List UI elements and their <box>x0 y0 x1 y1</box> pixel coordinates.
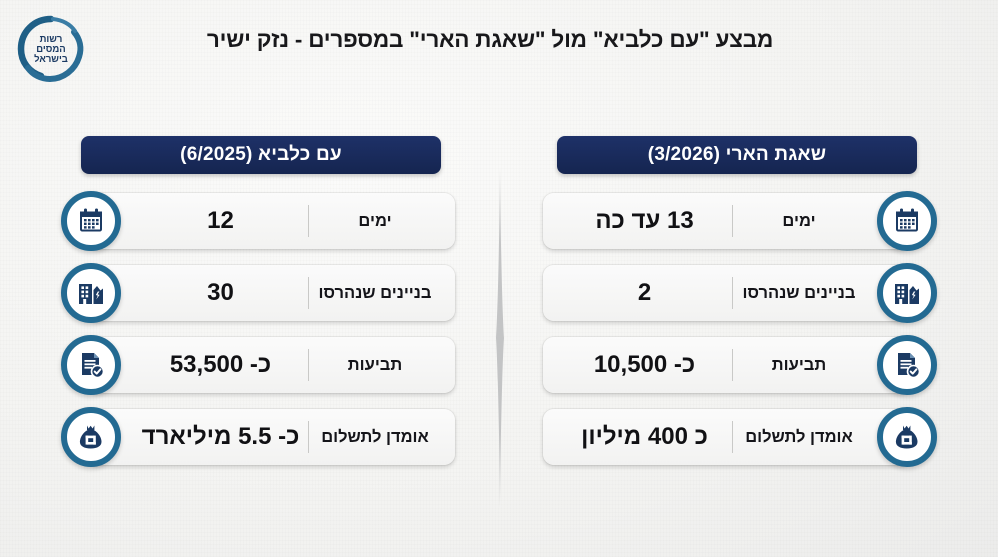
column-header-left: עם כלביא (6/2025) <box>81 136 441 174</box>
cell-separator <box>732 277 733 309</box>
metric-label: בניינים שנהרסו <box>733 284 865 303</box>
damaged-building-icon <box>61 263 121 323</box>
money-bag-shekel-icon <box>877 407 937 467</box>
cell-separator <box>308 349 309 381</box>
metric-value: 2 <box>557 279 732 307</box>
metric-value: 12 <box>133 207 308 235</box>
calendar-icon <box>877 191 937 251</box>
table-row: בניינים שנהרסו 30 <box>59 265 463 321</box>
metric-card-claims-left[interactable]: תביעות כ- 53,500 <box>87 337 455 393</box>
metric-value: כ 400 מיליון <box>557 423 732 451</box>
cell-separator <box>732 205 733 237</box>
metric-value: 30 <box>133 279 308 307</box>
calendar-icon <box>61 191 121 251</box>
logo-line-3: בישראל <box>34 54 68 65</box>
metric-value: כ- 5.5 מיליארד <box>133 423 308 451</box>
page-title: מבצע "עם כלביא" מול "שאגת הארי" במספרים … <box>0 27 998 53</box>
rows-left: ימים 12 <box>59 193 463 465</box>
metric-value: כ- 10,500 <box>557 351 732 379</box>
cell-separator <box>308 277 309 309</box>
metric-label: בניינים שנהרסו <box>309 284 441 303</box>
claim-document-icon <box>877 335 937 395</box>
column-am-kelavi: עם כלביא (6/2025) ימים 12 <box>59 136 463 465</box>
table-row: תביעות כ- 53,500 <box>59 337 463 393</box>
metric-label: אומדן לתשלום <box>309 428 441 447</box>
metric-card-payment-left[interactable]: אומדן לתשלום כ- 5.5 מיליארד <box>87 409 455 465</box>
metric-label: ימים <box>733 212 865 231</box>
table-row: ימים 13 עד כה <box>535 193 939 249</box>
metric-label: אומדן לתשלום <box>733 428 865 447</box>
metric-label: תביעות <box>733 356 865 375</box>
cell-separator <box>732 421 733 453</box>
money-bag-shekel-icon <box>61 407 121 467</box>
table-row: אומדן לתשלום כ 400 מיליון <box>535 409 939 465</box>
table-row: בניינים שנהרסו 2 <box>535 265 939 321</box>
damaged-building-icon <box>877 263 937 323</box>
vertical-spindle-divider-icon <box>493 168 507 508</box>
cell-separator <box>732 349 733 381</box>
column-header-right: שאגת הארי (3/2026) <box>557 136 917 174</box>
table-row: אומדן לתשלום כ- 5.5 מיליארד <box>59 409 463 465</box>
column-shaagat-haari: שאגת הארי (3/2026) ימים 13 עד כה <box>535 136 939 465</box>
metric-value: כ- 53,500 <box>133 351 308 379</box>
metric-card-buildings-right[interactable]: בניינים שנהרסו 2 <box>543 265 911 321</box>
cell-separator <box>308 205 309 237</box>
cell-separator <box>308 421 309 453</box>
claim-document-icon <box>61 335 121 395</box>
metric-label: תביעות <box>309 356 441 375</box>
table-row: תביעות כ- 10,500 <box>535 337 939 393</box>
metric-value: 13 עד כה <box>557 207 732 235</box>
metric-label: ימים <box>309 212 441 231</box>
infographic-page: רשות המסים בישראל מבצע "עם כלביא" מול "ש… <box>0 0 998 557</box>
rows-right: ימים 13 עד כה <box>535 193 939 465</box>
metric-card-claims-right[interactable]: תביעות כ- 10,500 <box>543 337 911 393</box>
metric-card-payment-right[interactable]: אומדן לתשלום כ 400 מיליון <box>543 409 911 465</box>
metric-card-days-left[interactable]: ימים 12 <box>87 193 455 249</box>
table-row: ימים 12 <box>59 193 463 249</box>
metric-card-days-right[interactable]: ימים 13 עד כה <box>543 193 911 249</box>
metric-card-buildings-left[interactable]: בניינים שנהרסו 30 <box>87 265 455 321</box>
